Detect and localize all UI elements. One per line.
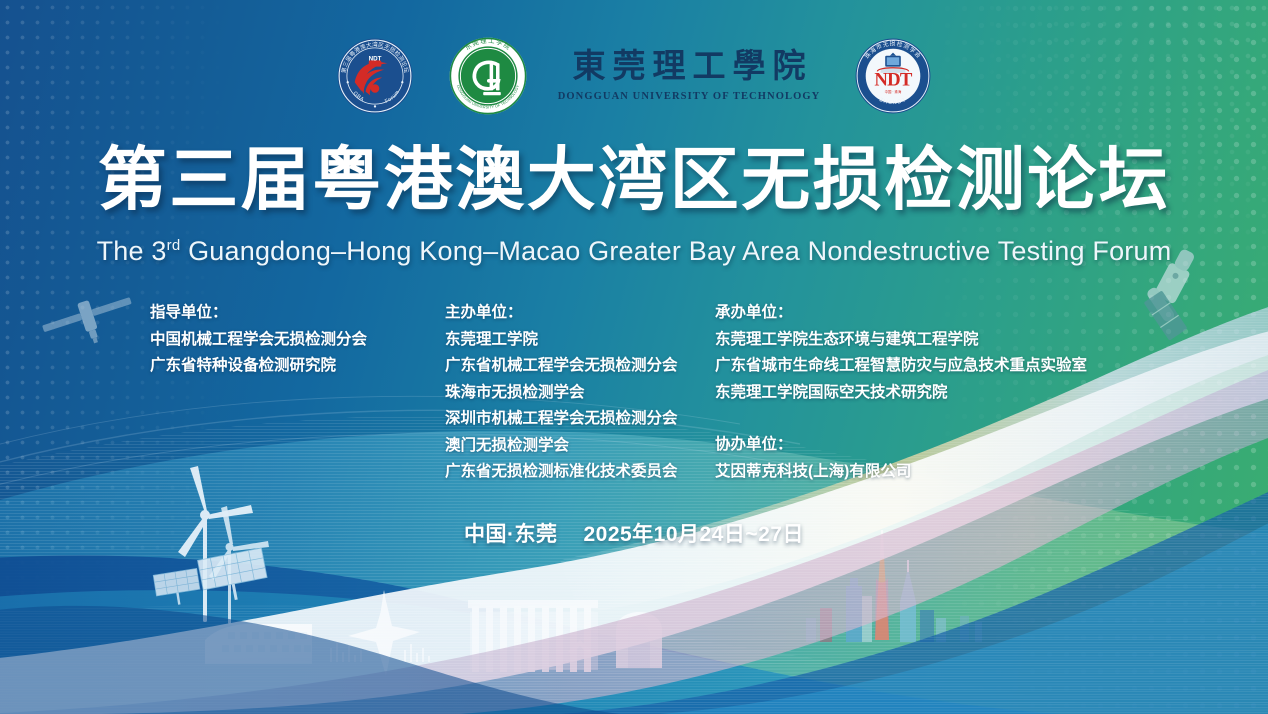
guidance-item: 广东省特种设备检测研究院 <box>150 353 445 380</box>
guidance-heading: 指导单位： <box>150 300 445 327</box>
subtitle-ordinal: rd <box>167 237 181 254</box>
wave-teal-hatch <box>0 560 1268 714</box>
host-item: 广东省机械工程学会无损检测分会 <box>445 353 715 380</box>
pedestrian-bridge-icon <box>568 640 592 652</box>
satellite-left-icon <box>39 288 140 357</box>
coorganizer-heading: 协办单位： <box>715 432 1148 459</box>
host-item: 东莞理工学院 <box>445 327 715 354</box>
organizer-item: 广东省城市生命线工程智慧防灾与应急技术重点实验室 <box>715 353 1148 380</box>
colonnade-building-icon <box>468 600 598 672</box>
wedge-deep-blue <box>560 482 1268 714</box>
svg-text:NDT: NDT <box>875 69 913 90</box>
event-details: 中国·东莞2025年10月24日~27日 <box>0 518 1268 548</box>
host-column: 主办单位： 东莞理工学院 广东省机械工程学会无损检测分会 珠海市无损检测学会 深… <box>445 300 715 486</box>
host-heading: 主办单位： <box>445 300 715 327</box>
wedge-bottom-left <box>0 606 620 714</box>
opera-house-icon <box>348 590 420 676</box>
dgut-wordmark-en: DONGGUAN UNIVERSITY OF TECHNOLOGY <box>558 91 821 102</box>
gba-ndt-forum-emblem: NDT 第三届粤港澳大湾区无损检测论坛 GBA Forum <box>336 37 414 115</box>
svg-text:中国 · 珠海: 中国 · 珠海 <box>885 89 902 94</box>
host-item: 广东省无损检测标准化技术委员会 <box>445 459 715 486</box>
organizer-heading: 承办单位： <box>715 300 1148 327</box>
dongguan-university-of-technology-emblem: 东莞理工学院 DONGGUAN UNIVERSITY OF TECHNOLOGY <box>448 36 528 116</box>
host-item: 珠海市无损检测学会 <box>445 380 715 407</box>
coorganizer-item: 艾因蒂克科技(上海)有限公司 <box>715 459 1148 486</box>
city-skyline-icon <box>330 642 430 662</box>
subtitle-pre: The 3 <box>97 236 167 266</box>
event-date: 2025年10月24日~27日 <box>583 523 804 546</box>
page-subtitle-en: The 3rd Guangdong–Hong Kong–Macao Greate… <box>0 236 1268 267</box>
column-spacer <box>715 406 1148 432</box>
page-title: 第三届粤港澳大湾区无损检测论坛 <box>0 141 1268 218</box>
guidance-item: 中国机械工程学会无损检测分会 <box>150 327 445 354</box>
host-item: 澳门无损检测学会 <box>445 433 715 460</box>
guidance-column: 指导单位： 中国机械工程学会无损检测分会 广东省特种设备检测研究院 <box>150 300 445 380</box>
wave-deep-blue <box>0 556 1060 714</box>
organizer-column: 承办单位： 东莞理工学院生态环境与建筑工程学院 广东省城市生命线工程智慧防灾与应… <box>715 300 1148 485</box>
organizations-block: 指导单位： 中国机械工程学会无损检测分会 广东省特种设备检测研究院 主办单位： … <box>150 300 1148 486</box>
dgut-wordmark: 東莞理工學院 DONGGUAN UNIVERSITY OF TECHNOLOGY <box>558 51 821 102</box>
arch-landmark-icon <box>616 612 662 668</box>
solar-panel-icon <box>153 568 202 607</box>
logo-row: NDT 第三届粤港澳大湾区无损检测论坛 GBA Forum <box>0 36 1268 116</box>
solar-panel-icon <box>198 548 271 606</box>
wave-teal-band <box>0 590 1060 714</box>
subtitle-post: Guangdong–Hong Kong–Macao Greater Bay Ar… <box>180 236 1171 266</box>
dgut-wordmark-cn: 東莞理工學院 <box>566 51 813 84</box>
conference-poster: NDT 第三届粤港澳大湾区无损检测论坛 GBA Forum <box>0 0 1268 714</box>
event-location: 中国·东莞 <box>464 523 558 546</box>
organizer-item: 东莞理工学院国际空天技术研究院 <box>715 380 1148 407</box>
high-speed-train-icon <box>205 624 312 664</box>
organizer-item: 东莞理工学院生态环境与建筑工程学院 <box>715 327 1148 354</box>
zhuhai-ndt-society-emblem: NDT 中国 · 珠海 珠海市无损检测学会 ZHSNDT <box>854 37 932 115</box>
host-item: 深圳市机械工程学会无损检测分会 <box>445 406 715 433</box>
svg-text:NDT: NDT <box>368 55 381 62</box>
